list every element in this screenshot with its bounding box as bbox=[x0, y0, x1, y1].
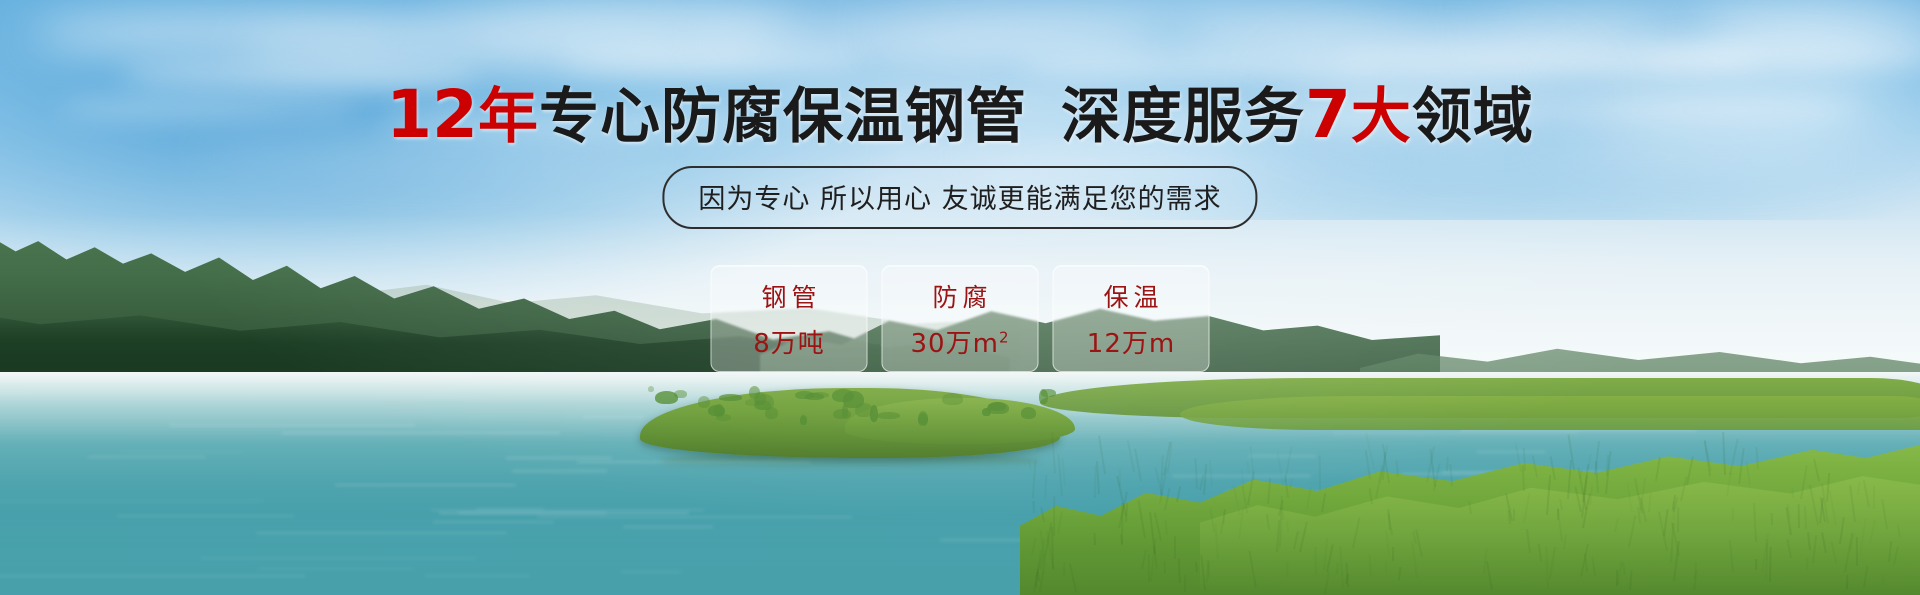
headline-fields-unit: 大 bbox=[1351, 82, 1412, 152]
subtitle-pill: 因为专心 所以用心 友诚更能满足您的需求 bbox=[662, 166, 1257, 229]
stat-card-title: 钢管 bbox=[756, 278, 821, 314]
hero-banner: 12年专心防腐保温钢管深度服务7大领域 因为专心 所以用心 友诚更能满足您的需求… bbox=[0, 0, 1920, 595]
subtitle-text: 因为专心 所以用心 友诚更能满足您的需求 bbox=[698, 184, 1221, 215]
banner-content: 12年专心防腐保温钢管深度服务7大领域 因为专心 所以用心 友诚更能满足您的需求… bbox=[0, 0, 1920, 595]
headline-years-number: 12 bbox=[386, 76, 478, 153]
stat-card-value: 8万吨 bbox=[753, 323, 825, 360]
stat-card-anticorrosion: 防腐 30万m2 bbox=[882, 265, 1039, 372]
stat-card-value-superscript: 2 bbox=[999, 328, 1010, 346]
headline-years-unit: 年 bbox=[478, 82, 539, 152]
stat-card-value-text: 8万吨 bbox=[753, 329, 825, 359]
headline-main-text: 专心防腐保温钢管 bbox=[539, 82, 1027, 152]
stat-card-value: 12万m bbox=[1087, 323, 1175, 360]
stat-card-value-text: 12万m bbox=[1087, 329, 1175, 359]
stat-card-title: 防腐 bbox=[927, 278, 992, 314]
banner-headline: 12年专心防腐保温钢管深度服务7大领域 bbox=[0, 82, 1920, 148]
stat-card-insulation: 保温 12万m bbox=[1053, 265, 1210, 372]
stat-card-steel-pipe: 钢管 8万吨 bbox=[711, 265, 868, 372]
headline-fields-tail: 领域 bbox=[1412, 82, 1534, 152]
headline-service-text: 深度服务 bbox=[1061, 82, 1305, 152]
stat-card-title: 保温 bbox=[1098, 278, 1163, 314]
stat-card-group: 钢管 8万吨 防腐 30万m2 保温 12万m bbox=[711, 265, 1210, 372]
stat-card-value-text: 30万m bbox=[911, 329, 999, 359]
headline-fields-number: 7 bbox=[1305, 76, 1351, 153]
stat-card-value: 30万m2 bbox=[911, 323, 1010, 360]
